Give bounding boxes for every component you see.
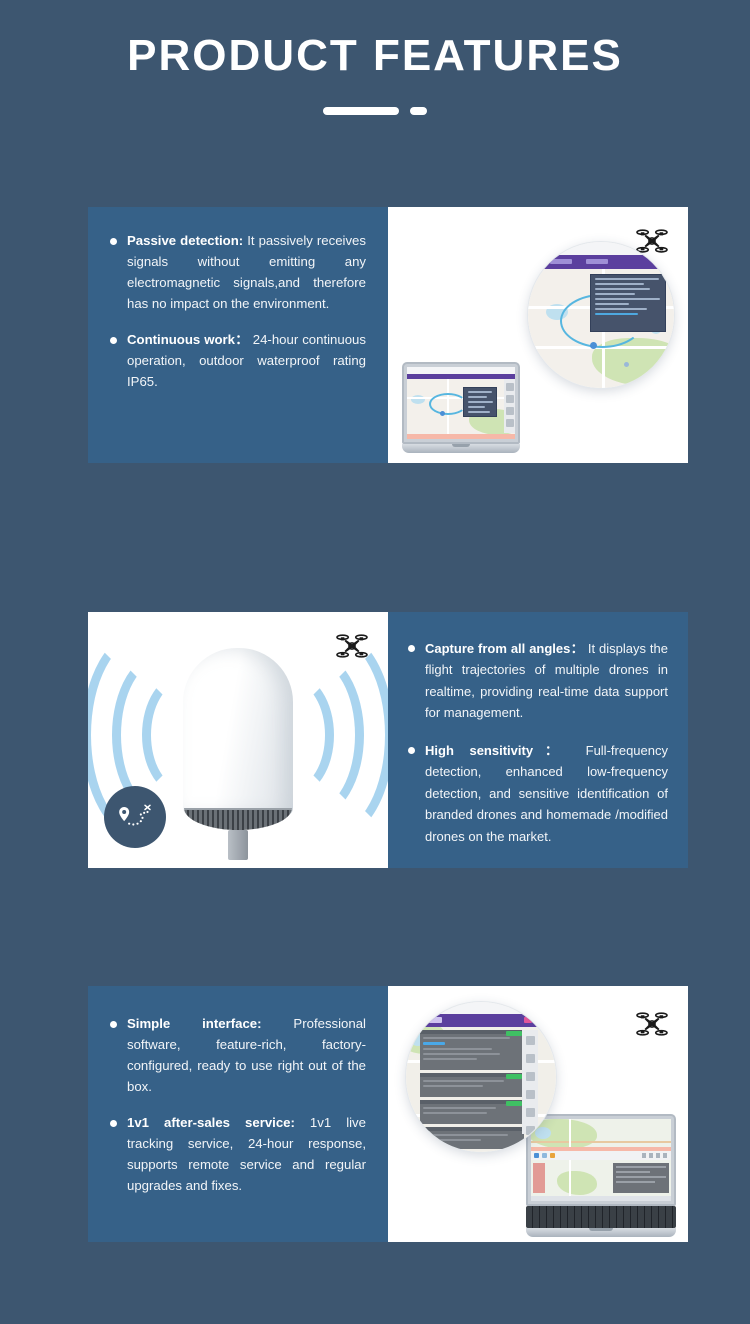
app-nav-items	[550, 259, 608, 264]
detection-info-popup	[590, 274, 666, 332]
row-line	[423, 1107, 496, 1109]
laptop-keyboard	[526, 1206, 676, 1228]
title-divider	[323, 106, 427, 116]
card-text-pane: Capture from all angles： It displays the…	[388, 612, 688, 868]
app-toolbar-icons-right	[642, 1153, 667, 1158]
sidebar-tool-icon	[526, 1054, 535, 1063]
row-line	[423, 1037, 510, 1039]
bullet-item: High sensitivity： Full-frequency detecti…	[408, 740, 668, 847]
sidebar-tool-icon	[526, 1072, 535, 1081]
location-pin-trajectory-icon	[115, 800, 155, 834]
bullet-dot-icon	[110, 1120, 117, 1127]
trajectory-badge	[104, 786, 166, 848]
popup-line	[468, 406, 485, 408]
row-line	[423, 1080, 504, 1082]
row-line	[423, 1112, 487, 1114]
bullet-dot-icon	[110, 337, 117, 344]
bullet-dot-icon	[408, 645, 415, 652]
laptop-screen	[407, 367, 515, 439]
card-image-pane	[388, 986, 688, 1242]
device-list-row	[420, 1073, 524, 1097]
row-line	[423, 1053, 500, 1055]
bullet-text: Passive detection: It passively receives…	[127, 231, 366, 314]
popup-line	[595, 293, 635, 295]
card-image-pane	[388, 207, 688, 463]
antenna-grille	[184, 808, 292, 830]
popup-line	[468, 411, 490, 413]
sidebar-tool-icon	[526, 1108, 535, 1117]
laptop-lid	[402, 362, 520, 444]
bullet-item: Continuous work： 24-hour continuous oper…	[110, 330, 366, 393]
sidebar-tool-icon	[526, 1090, 535, 1099]
bullet-dot-icon	[408, 747, 415, 754]
app-title-bar	[406, 1002, 556, 1014]
card-text-pane: Simple interface: Professional software,…	[88, 986, 388, 1242]
app-nav-indicator	[524, 1017, 532, 1023]
row-line	[423, 1085, 483, 1087]
bullet-lead: Continuous work：	[127, 332, 249, 347]
laptop-base	[402, 444, 520, 453]
bullet-lead: Simple interface:	[127, 1016, 262, 1031]
map-marker	[440, 411, 445, 416]
map-marker	[590, 342, 597, 349]
antenna-device	[183, 648, 293, 860]
popup-line	[468, 401, 493, 403]
zoom-inset-circle	[528, 242, 674, 388]
antenna-illustration	[88, 612, 388, 868]
laptop-device	[402, 362, 520, 453]
row-highlight	[423, 1042, 445, 1045]
bullet-text: Simple interface: Professional software,…	[127, 1014, 366, 1097]
bullet-dot-icon	[110, 238, 117, 245]
app-tool-sidebar	[522, 1030, 538, 1134]
app-status-bar	[407, 434, 515, 439]
bullet-lead: Passive detection:	[127, 233, 243, 248]
app-toolbar-icons	[534, 1153, 555, 1158]
device-list	[420, 1030, 524, 1152]
laptop-base	[526, 1228, 676, 1237]
status-badge	[506, 1101, 522, 1106]
sidebar-tool-icon	[506, 419, 514, 427]
bullet-text: 1v1 after-sales service: 1v1 live tracki…	[127, 1113, 366, 1196]
bullet-text: High sensitivity： Full-frequency detecti…	[425, 740, 668, 847]
popup-line	[595, 278, 659, 280]
bullet-dot-icon	[110, 1021, 117, 1028]
bullet-item: Passive detection: It passively receives…	[110, 231, 366, 314]
divider-dot-icon	[410, 107, 427, 115]
device-list-row	[420, 1127, 524, 1149]
antenna-body	[183, 648, 293, 816]
popup-line	[595, 288, 650, 290]
sidebar-tool-icon	[526, 1036, 535, 1045]
sidebar-tool-icon	[506, 407, 514, 415]
row-line	[423, 1048, 492, 1050]
drone-icon	[632, 1004, 672, 1044]
app-tool-sidebar	[504, 379, 515, 433]
row-line	[423, 1134, 508, 1136]
page-header: PRODUCT FEATURES	[0, 0, 750, 116]
card-image-pane	[88, 612, 388, 868]
dashboard-data-panel	[613, 1163, 669, 1193]
map-marker	[624, 362, 629, 367]
bullet-lead: High sensitivity：	[425, 743, 570, 758]
popup-line	[468, 396, 487, 398]
popup-line	[595, 313, 638, 315]
map-road	[569, 1119, 571, 1201]
zoom-inset-circle	[406, 1002, 556, 1152]
feature-card-interface-service: Simple interface: Professional software,…	[88, 986, 688, 1242]
page-title: PRODUCT FEATURES	[0, 32, 750, 80]
sidebar-tool-icon	[526, 1126, 535, 1135]
device-list-row	[420, 1100, 524, 1124]
status-badge	[506, 1031, 522, 1036]
flight-track	[429, 393, 467, 415]
popup-line	[468, 391, 492, 393]
app-logo	[424, 1017, 442, 1023]
app-nav-bar	[407, 374, 515, 379]
row-header	[420, 1127, 524, 1131]
feature-card-passive-detection: Passive detection: It passively receives…	[88, 207, 688, 463]
card-text-pane: Passive detection: It passively receives…	[88, 207, 388, 463]
bullet-text: Continuous work： 24-hour continuous oper…	[127, 330, 366, 393]
bullet-lead: 1v1 after-sales service:	[127, 1115, 295, 1130]
bullet-text: Capture from all angles： It displays the…	[425, 638, 668, 724]
divider-bar-icon	[323, 107, 399, 115]
antenna-mount	[228, 830, 248, 860]
bullet-item: 1v1 after-sales service: 1v1 live tracki…	[110, 1113, 366, 1196]
popup-line	[595, 308, 647, 310]
app-status-bar	[531, 1196, 671, 1201]
row-line	[423, 1139, 481, 1141]
feature-card-capture-sensitivity: Capture from all angles： It displays the…	[88, 612, 688, 868]
map-side-panel	[533, 1163, 545, 1193]
app-title-bar	[528, 242, 674, 255]
device-list-row	[420, 1030, 524, 1070]
app-title-bar	[407, 367, 515, 374]
bullet-lead: Capture from all angles：	[425, 641, 584, 656]
popup-line	[595, 283, 644, 285]
bullet-item: Simple interface: Professional software,…	[110, 1014, 366, 1097]
sidebar-tool-icon	[506, 383, 514, 391]
bullet-item: Capture from all angles： It displays the…	[408, 638, 668, 724]
map-park-area	[557, 1171, 597, 1195]
popup-line	[595, 303, 629, 305]
popup-line	[595, 298, 660, 300]
row-line	[423, 1058, 477, 1060]
sidebar-tool-icon	[506, 395, 514, 403]
status-badge	[506, 1074, 522, 1079]
drone-icon	[332, 626, 372, 666]
detection-info-popup	[463, 387, 497, 417]
